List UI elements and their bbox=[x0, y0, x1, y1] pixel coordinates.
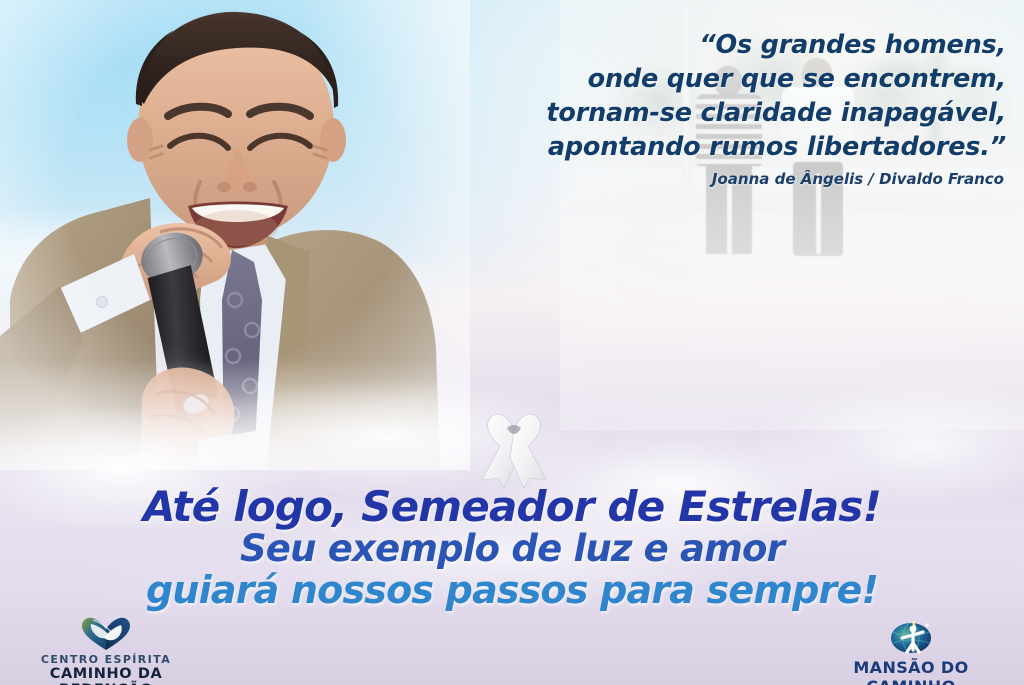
globe-figure-icon bbox=[886, 616, 936, 656]
memorial-poster: “Os grandes homens, onde quer que se enc… bbox=[0, 0, 1024, 685]
quote-text: “Os grandes homens, onde quer que se enc… bbox=[426, 28, 1006, 164]
quote-line-4: apontando rumos libertadores.” bbox=[426, 130, 1006, 164]
portrait-illustration bbox=[0, 0, 470, 470]
quote-line-3: tornam-se claridade inapagável, bbox=[426, 96, 1006, 130]
portrait-divaldo-franco bbox=[0, 0, 470, 470]
white-awareness-ribbon bbox=[478, 408, 550, 488]
headline-line-1: Até logo, Semeador de Estrelas! bbox=[0, 484, 1024, 529]
logo-left-line-1: CENTRO ESPÍRITA bbox=[8, 653, 204, 666]
quote-line-1: “Os grandes homens, bbox=[426, 28, 1006, 62]
hands-heart-icon bbox=[79, 616, 133, 652]
quote-line-2: onde quer que se encontrem, bbox=[426, 62, 1006, 96]
logo-left-line-2: CAMINHO DA REDENÇÃO bbox=[8, 666, 204, 685]
quote-attribution: Joanna de Ângelis / Divaldo Franco bbox=[424, 170, 1004, 188]
headline-line-3: guiará nossos passos para sempre! bbox=[0, 569, 1024, 611]
logo-right-line-1: MANSÃO DO CAMINHO bbox=[806, 658, 1016, 685]
logo-mansao-do-caminho: MANSÃO DO CAMINHO bbox=[806, 616, 1016, 685]
headline-line-2: Seu exemplo de luz e amor bbox=[0, 529, 1024, 569]
headline-block: Até logo, Semeador de Estrelas! Seu exem… bbox=[0, 484, 1024, 611]
ribbon-icon bbox=[478, 408, 550, 488]
logo-centro-espirita: CENTRO ESPÍRITA CAMINHO DA REDENÇÃO bbox=[8, 616, 204, 685]
